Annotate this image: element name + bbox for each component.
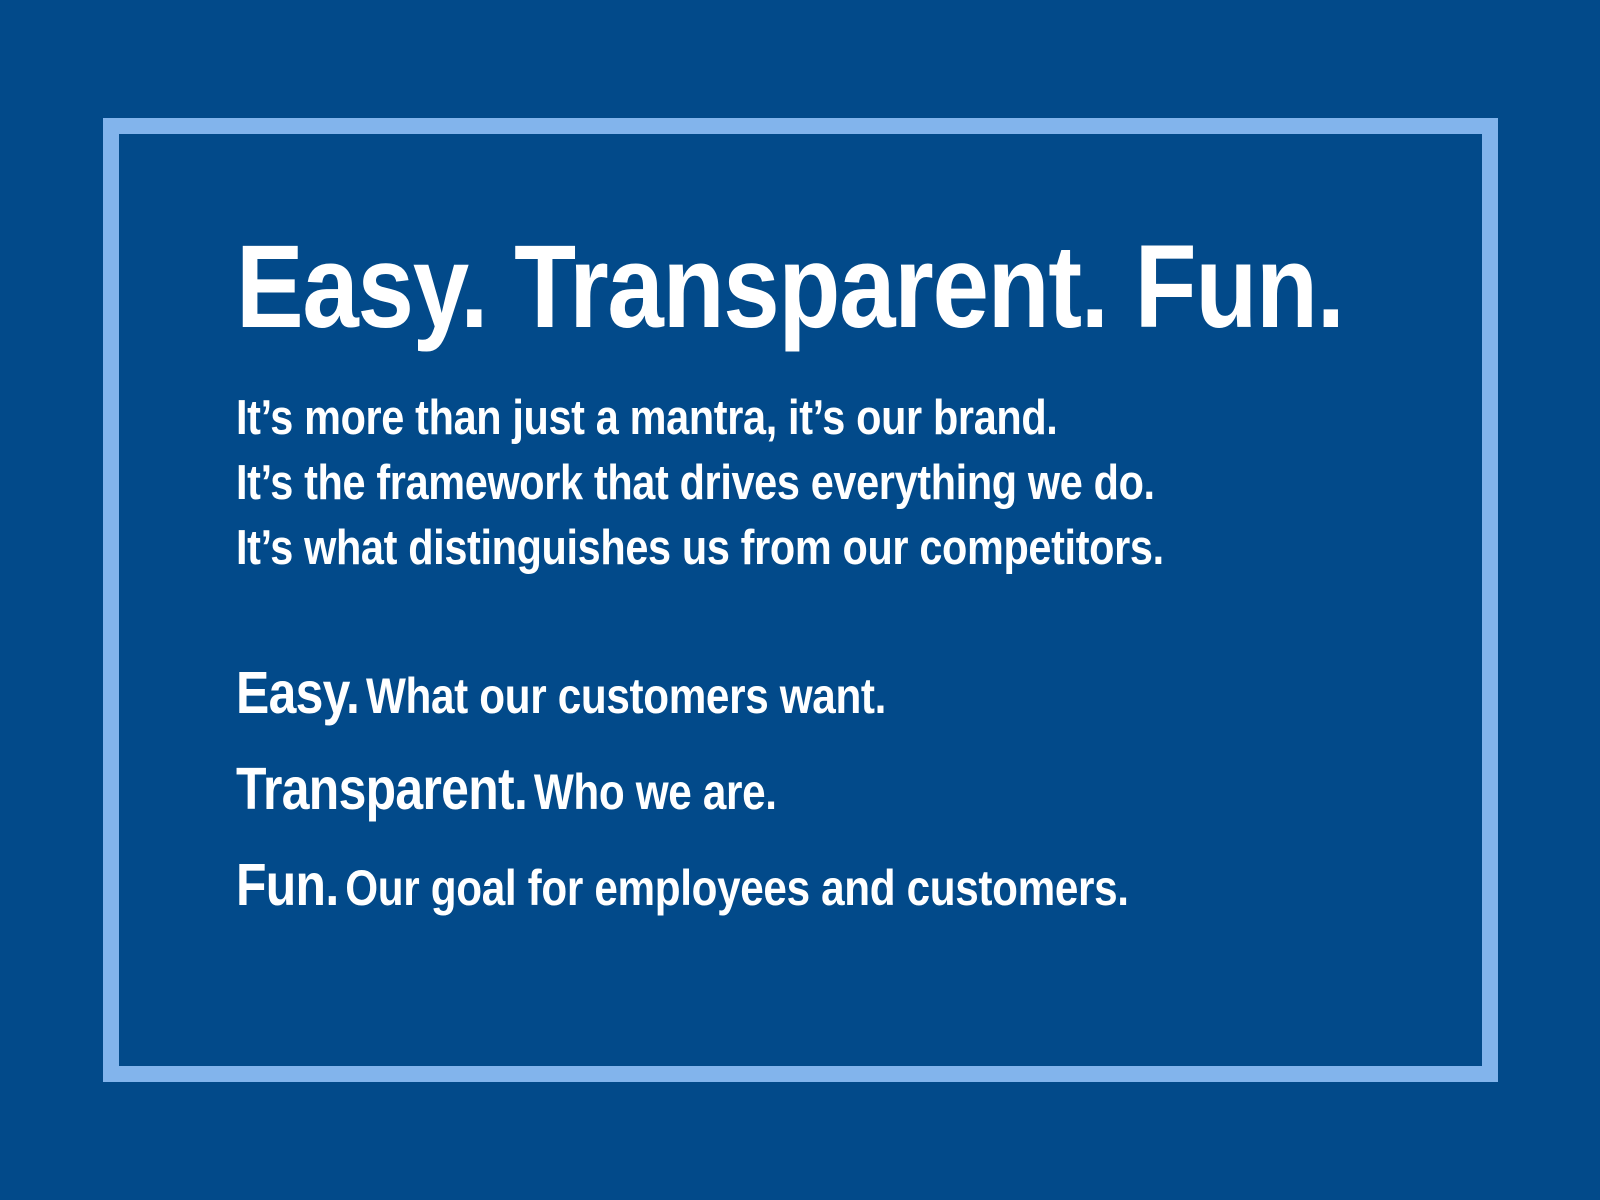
page-title: Easy. Transparent. Fun. <box>236 150 1251 346</box>
value-description-fun: Our goal for employees and customers. <box>339 860 1129 916</box>
intro-line-3: It’s what distinguishes us from our comp… <box>236 516 1233 581</box>
slide-canvas: Easy. Transparent. Fun. It’s more than j… <box>0 0 1600 1200</box>
intro-line-2: It’s the framework that drives everythin… <box>236 451 1233 516</box>
value-item-transparent: Transparent.Who we are. <box>236 749 1233 845</box>
value-term-transparent: Transparent. <box>236 756 527 822</box>
value-description-transparent: Who we are. <box>527 764 777 820</box>
intro-paragraph: It’s more than just a mantra, it’s our b… <box>236 346 1416 581</box>
value-item-easy: Easy.What our customers want. <box>236 653 1233 749</box>
slide-content: Easy. Transparent. Fun. It’s more than j… <box>236 150 1416 941</box>
values-list: Easy.What our customers want. Transparen… <box>236 581 1416 941</box>
value-term-fun: Fun. <box>236 852 339 918</box>
intro-line-1: It’s more than just a mantra, it’s our b… <box>236 386 1233 451</box>
value-description-easy: What our customers want. <box>359 668 886 724</box>
value-item-fun: Fun.Our goal for employees and customers… <box>236 845 1233 941</box>
value-term-easy: Easy. <box>236 660 359 726</box>
